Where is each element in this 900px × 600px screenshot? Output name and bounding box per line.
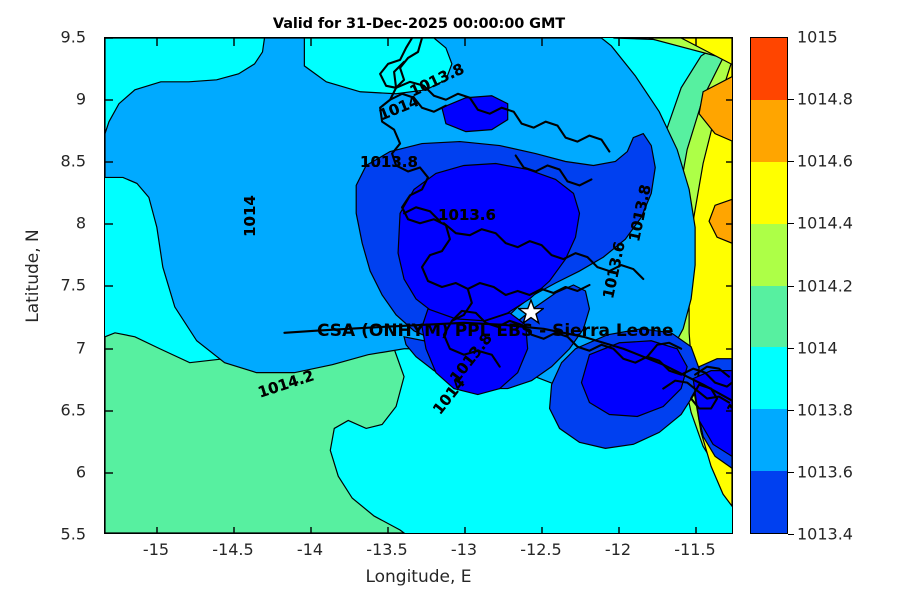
colorbar-tick	[788, 99, 794, 100]
colorbar-band	[751, 409, 787, 471]
colorbar-tick-label: 1014	[797, 338, 838, 357]
contour-value-label: 1013.8	[360, 153, 418, 171]
colorbar-tick	[788, 410, 794, 411]
colorbar-tick	[788, 161, 794, 162]
y-tick-label: 6.5	[61, 401, 86, 420]
y-tick-label: 6	[76, 463, 86, 482]
colorbar-tick-label: 1014.6	[797, 152, 853, 171]
filled-contour-bands	[105, 38, 732, 533]
y-tick-label: 9.5	[61, 28, 86, 47]
y-tick-label: 7	[76, 339, 86, 358]
x-tick-label: -13.5	[366, 540, 407, 559]
colorbar-tick-label: 1014.8	[797, 90, 853, 109]
colorbar-band	[751, 224, 787, 286]
colorbar-tick-label: 1013.4	[797, 525, 853, 544]
page-title: Valid for 31-Dec-2025 00:00:00 GMT	[104, 16, 734, 32]
y-tick-label: 7.5	[61, 276, 86, 295]
colorbar-tick-label: 1014.2	[797, 276, 853, 295]
colorbar-tick-label: 1013.8	[797, 400, 853, 419]
colorbar-band	[751, 100, 787, 162]
colorbar-tick-label: 1015	[797, 28, 838, 47]
x-tick-label: -14.5	[212, 540, 253, 559]
colorbar-band	[751, 286, 787, 348]
x-tick-label: -13	[451, 540, 477, 559]
x-tick-label: -14	[297, 540, 323, 559]
contour-map	[105, 38, 732, 533]
colorbar-tick-label: 1013.6	[797, 462, 853, 481]
x-tick-label: -12.5	[520, 540, 561, 559]
contour-value-label: 1014	[241, 195, 259, 237]
x-tick-label: -12	[605, 540, 631, 559]
colorbar-tick	[788, 472, 794, 473]
site-label: CSA (ONHYM) PPL EBS - Sierra Leone	[317, 321, 674, 341]
colorbar-tick	[788, 286, 794, 287]
colorbar[interactable]	[750, 37, 788, 534]
colorbar-tick-label: 1014.4	[797, 214, 853, 233]
colorbar-tick	[788, 223, 794, 224]
colorbar-band	[751, 38, 787, 100]
colorbar-tick	[788, 534, 794, 535]
y-tick-label: 8	[76, 214, 86, 233]
y-tick-label: 5.5	[61, 525, 86, 544]
y-axis-title: Latitude, N	[23, 166, 43, 386]
pressure-contour-figure: Valid for 31-Dec-2025 00:00:00 GMT	[0, 0, 900, 600]
x-axis-title: Longitude, E	[104, 567, 733, 587]
colorbar-band	[751, 471, 787, 533]
colorbar-tick	[788, 348, 794, 349]
colorbar-band	[751, 347, 787, 409]
y-tick-label: 8.5	[61, 152, 86, 171]
map-plot-area[interactable]: 1013.810141013.81013.610141013.81013.610…	[104, 37, 733, 534]
contour-value-label: 1013.6	[438, 206, 496, 224]
x-tick-label: -15	[143, 540, 169, 559]
x-tick-label: -11.5	[674, 540, 715, 559]
y-tick-label: 9	[76, 90, 86, 109]
colorbar-band	[751, 162, 787, 224]
